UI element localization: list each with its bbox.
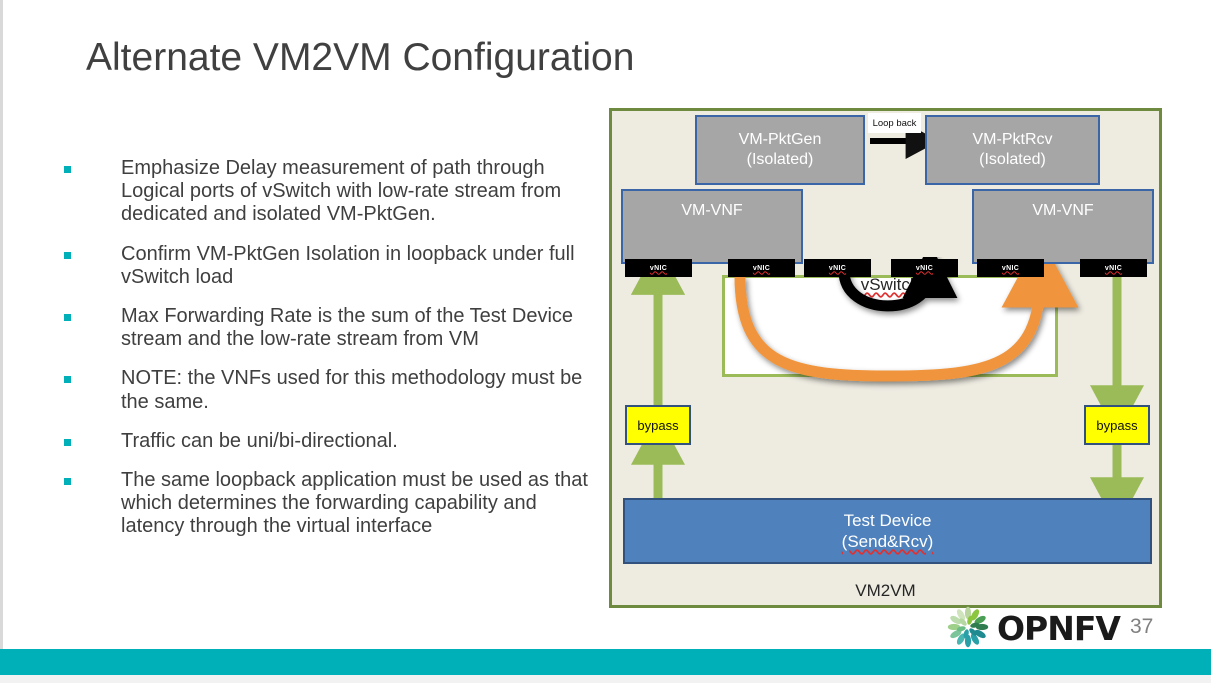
list-item: Confirm VM-PktGen Isolation in loopback … <box>64 243 594 289</box>
list-item: The same loopback application must be us… <box>64 469 594 539</box>
left-edge-rule <box>0 0 3 660</box>
vnic-label: vNIC <box>1105 265 1122 272</box>
vm-vnf-right-label: VM-VNF <box>1032 202 1093 220</box>
vnic-bar-3: vNIC <box>804 259 871 277</box>
slide-canvas: Alternate VM2VM Configuration Emphasize … <box>0 0 1211 683</box>
bullet-marker-icon <box>64 478 71 485</box>
vnic-label: vNIC <box>650 265 667 272</box>
bullet-text: Emphasize Delay measurement of path thro… <box>121 157 594 227</box>
bullet-text: NOTE: the VNFs used for this methodology… <box>121 367 594 413</box>
loop-back-text: Loop back <box>873 118 917 129</box>
vnic-label: vNIC <box>753 265 770 272</box>
test-device-line2: (Send&Rcv) <box>842 531 934 552</box>
bullet-text: Traffic can be uni/bi-directional. <box>121 430 398 453</box>
vnic-label: vNIC <box>916 265 933 272</box>
page-title: Alternate VM2VM Configuration <box>86 36 634 80</box>
vm-pktrcv-line1: VM-PktRcv <box>973 130 1053 150</box>
opnfv-burst-icon <box>941 606 997 650</box>
vm-pktrcv-line2: (Isolated) <box>979 150 1046 170</box>
test-device-box: Test Device (Send&Rcv) <box>623 498 1152 564</box>
vnic-label: vNIC <box>829 265 846 272</box>
vm-pktgen-line2: (Isolated) <box>747 150 814 170</box>
list-item: Traffic can be uni/bi-directional. <box>64 430 594 453</box>
loop-back-label: Loop back <box>868 113 921 133</box>
vm2vm-frame-label: VM2VM <box>612 581 1159 601</box>
vm-vnf-left-box: VM-VNF <box>621 189 803 264</box>
vnic-bar-1: vNIC <box>625 259 692 277</box>
page-number: 37 <box>1130 615 1153 639</box>
bullet-marker-icon <box>64 376 71 383</box>
opnfv-logo: OPNFV <box>941 606 1111 652</box>
vnic-label: vNIC <box>1002 265 1019 272</box>
list-item: Max Forwarding Rate is the sum of the Te… <box>64 305 594 351</box>
bullet-list: Emphasize Delay measurement of path thro… <box>64 157 594 554</box>
vswitch-label: vSwitch <box>722 275 1058 295</box>
bypass-right-label: bypass <box>1096 418 1137 433</box>
vnic-bar-4: vNIC <box>891 259 958 277</box>
vm2vm-diagram: vSwitch <box>609 108 1162 608</box>
footer-base <box>0 675 1211 683</box>
list-item: Emphasize Delay measurement of path thro… <box>64 157 594 227</box>
bullet-marker-icon <box>64 314 71 321</box>
test-device-line2-text: (Send&Rcv) <box>842 532 934 551</box>
footer-accent-band <box>0 649 1211 675</box>
vswitch-label-text: vSwitch <box>861 275 920 294</box>
vm-pktrcv-box: VM-PktRcv (Isolated) <box>925 115 1100 185</box>
bullet-marker-icon <box>64 166 71 173</box>
opnfv-wordmark: OPNFV <box>997 609 1120 648</box>
vm2vm-frame-label-text: VM2VM <box>855 581 915 600</box>
vm-vnf-left-label: VM-VNF <box>681 202 742 220</box>
bypass-right-box: bypass <box>1084 405 1150 445</box>
bypass-left-box: bypass <box>625 405 691 445</box>
bullet-marker-icon <box>64 252 71 259</box>
vm-vnf-right-box: VM-VNF <box>972 189 1154 264</box>
list-item: NOTE: the VNFs used for this methodology… <box>64 367 594 413</box>
bullet-text: The same loopback application must be us… <box>121 469 594 539</box>
bullet-text: Confirm VM-PktGen Isolation in loopback … <box>121 243 594 289</box>
vnic-bar-2: vNIC <box>728 259 795 277</box>
vm-pktgen-box: VM-PktGen (Isolated) <box>695 115 865 185</box>
bypass-left-label: bypass <box>637 418 678 433</box>
bullet-marker-icon <box>64 439 71 446</box>
test-device-line1: Test Device <box>844 510 932 531</box>
vnic-bar-5: vNIC <box>977 259 1044 277</box>
vm-pktgen-line1: VM-PktGen <box>739 130 822 150</box>
vnic-bar-6: vNIC <box>1080 259 1147 277</box>
bullet-text: Max Forwarding Rate is the sum of the Te… <box>121 305 594 351</box>
